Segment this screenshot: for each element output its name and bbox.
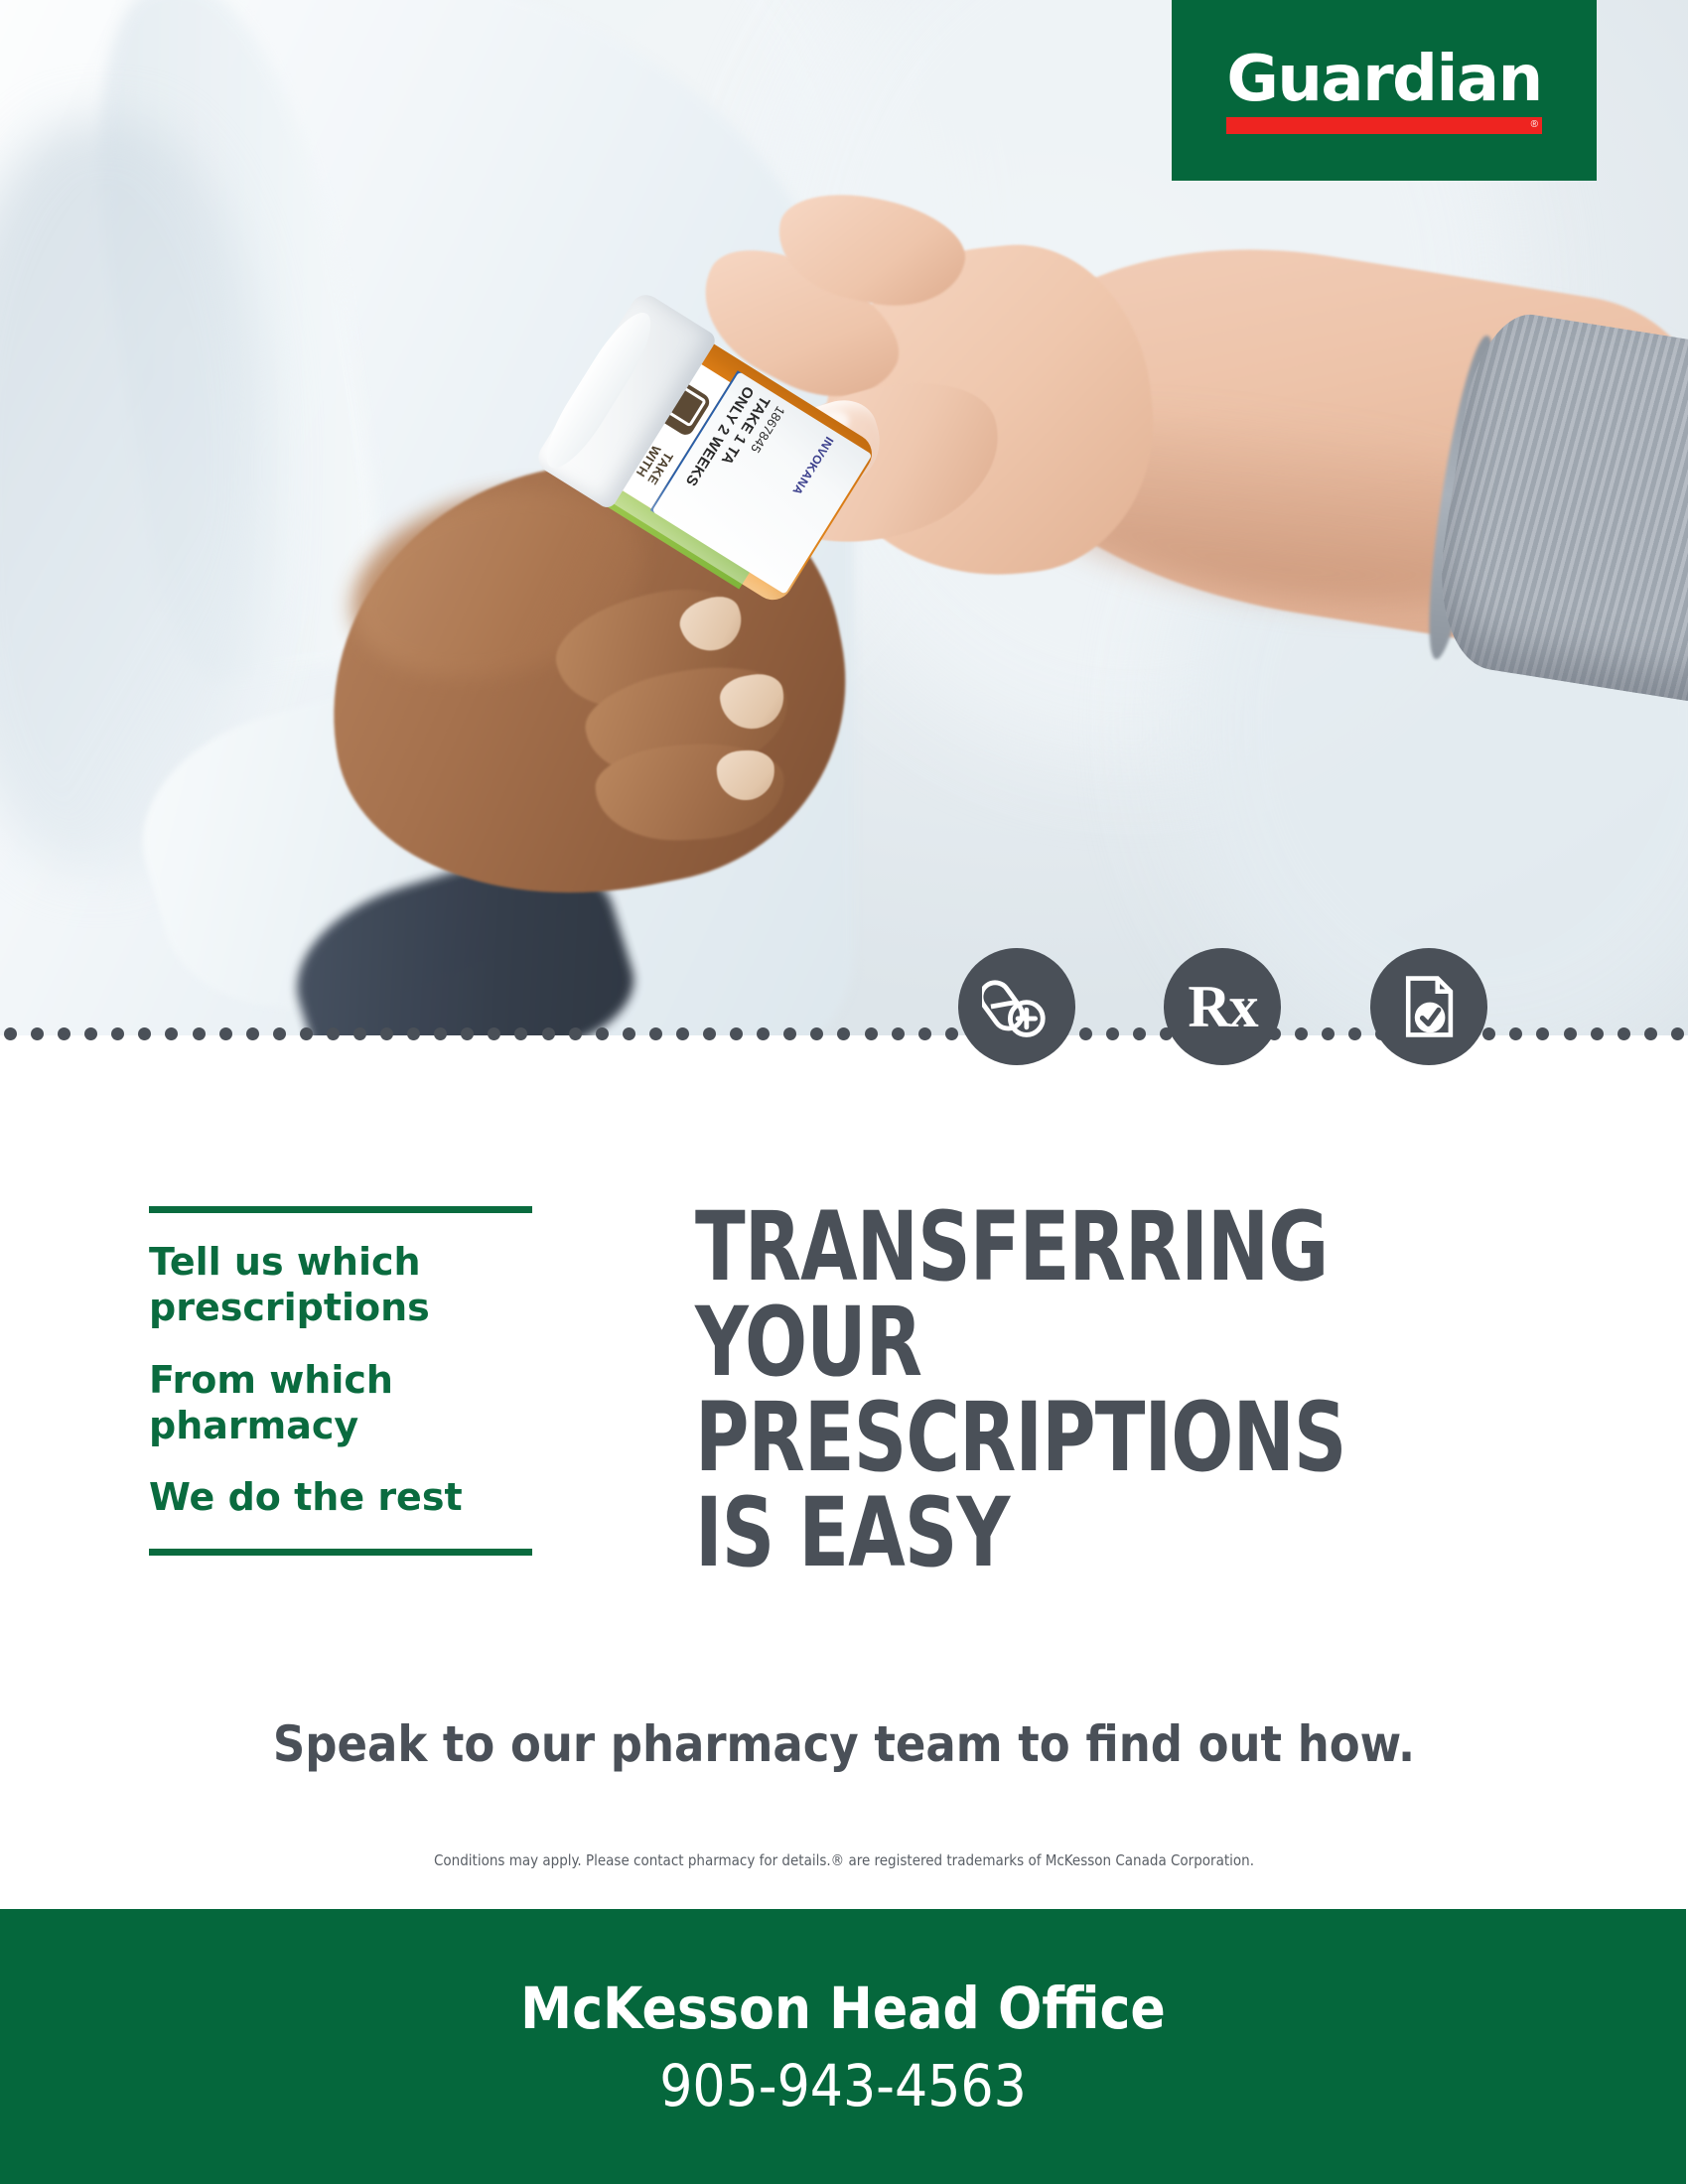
bullet-item: Tell us which prescriptions bbox=[149, 1239, 532, 1331]
pills-plus-icon bbox=[958, 948, 1075, 1065]
bullet-rule-top bbox=[149, 1206, 532, 1213]
rx-symbol-text: Rx bbox=[1188, 977, 1256, 1036]
registered-trademark-icon: ® bbox=[1531, 120, 1538, 130]
bullet-item: We do the rest bbox=[149, 1474, 532, 1520]
headline-line-2: YOUR bbox=[695, 1295, 1447, 1390]
document-check-icon bbox=[1370, 948, 1487, 1065]
icon-row: Rx bbox=[0, 948, 1688, 1117]
headline-line-3: PRESCRIPTIONS bbox=[695, 1390, 1447, 1485]
footer-office-name: McKesson Head Office bbox=[520, 1975, 1166, 2042]
footer-phone-number[interactable]: 905-943-4563 bbox=[659, 2052, 1027, 2119]
page-title: TRANSFERRING YOUR PRESCRIPTIONS IS EASY bbox=[695, 1199, 1447, 1580]
footer-bar: McKesson Head Office 905-943-4563 bbox=[0, 1909, 1686, 2184]
content-area: Tell us which prescriptions From which p… bbox=[0, 1035, 1688, 2184]
headline-line-4: IS EASY bbox=[695, 1485, 1447, 1580]
rx-icon: Rx bbox=[1164, 948, 1281, 1065]
headline-line-1: TRANSFERRING bbox=[695, 1199, 1447, 1295]
poster-root: TAKE WITH FOOD 1867845 TAKE 1 TA ONLY 2 … bbox=[0, 0, 1688, 2184]
guardian-wordmark: Guardian bbox=[1226, 48, 1541, 111]
subheading: Speak to our pharmacy team to find out h… bbox=[0, 1715, 1688, 1773]
legal-disclaimer: Conditions may apply. Please contact pha… bbox=[0, 1851, 1688, 1869]
bullet-item: From which pharmacy bbox=[149, 1357, 532, 1449]
guardian-logo: Guardian ® bbox=[1172, 0, 1597, 181]
bullet-list: Tell us which prescriptions From which p… bbox=[149, 1206, 532, 1556]
guardian-red-bar: ® bbox=[1226, 117, 1542, 134]
bullet-rule-bottom bbox=[149, 1549, 532, 1556]
